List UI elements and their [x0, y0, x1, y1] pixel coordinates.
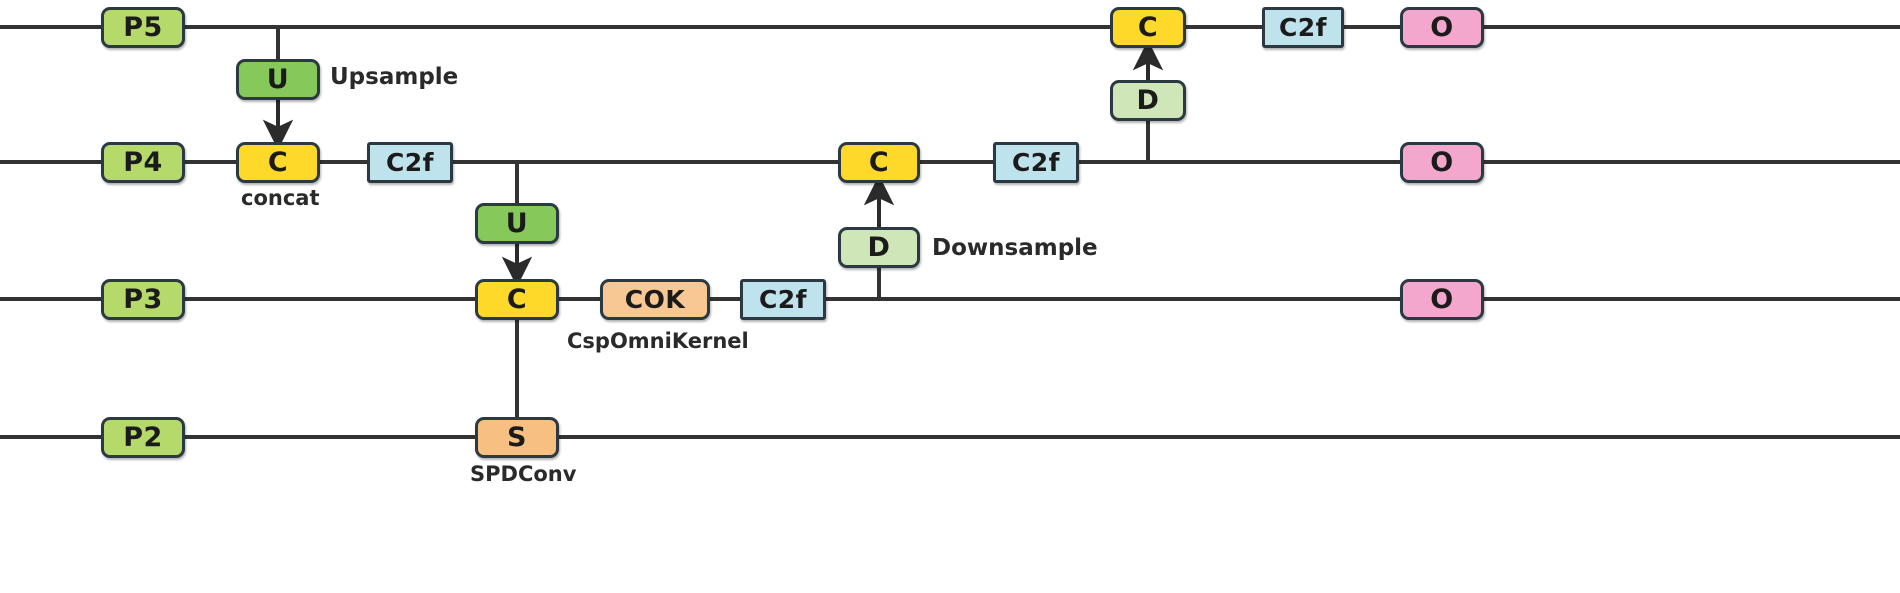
node-p5-concat[interactable]: C	[1110, 7, 1186, 48]
node-label: D	[1137, 87, 1160, 114]
node-label: P5	[123, 14, 163, 41]
node-label: U	[506, 210, 528, 237]
node-p3-cspomnikernel[interactable]: COK	[600, 279, 710, 320]
node-label: C2f	[1012, 150, 1060, 175]
node-label: P3	[123, 286, 163, 313]
node-p4-c2f-2[interactable]: C2f	[993, 142, 1079, 183]
node-label: D	[868, 234, 891, 261]
node-p5-output[interactable]: O	[1400, 7, 1484, 48]
node-p2-spdconv[interactable]: S	[475, 417, 559, 458]
node-p4-upsample[interactable]: U	[475, 203, 559, 244]
node-label: O	[1430, 14, 1453, 41]
node-p4-level[interactable]: P4	[101, 142, 185, 183]
node-label: U	[267, 66, 289, 93]
caption-spdconv: SPDConv	[470, 464, 576, 485]
node-p5-c2f[interactable]: C2f	[1262, 7, 1344, 48]
caption-downsample: Downsample	[932, 237, 1098, 260]
node-p4-concat[interactable]: C	[236, 142, 320, 183]
node-label: COK	[625, 287, 685, 312]
node-label: C	[268, 149, 288, 176]
node-p5-level[interactable]: P5	[101, 7, 185, 48]
node-label: P4	[123, 149, 163, 176]
node-p3-output[interactable]: O	[1400, 279, 1484, 320]
node-label: C2f	[386, 150, 434, 175]
node-label: C	[1138, 14, 1158, 41]
node-p4-downsample[interactable]: D	[838, 227, 920, 268]
node-p3-concat[interactable]: C	[475, 279, 559, 320]
caption-cspomnikernel: CspOmniKernel	[567, 331, 749, 352]
node-label: P2	[123, 424, 163, 451]
node-p4-c2f[interactable]: C2f	[367, 142, 453, 183]
caption-concat: concat	[241, 188, 319, 209]
node-label: O	[1430, 149, 1453, 176]
node-p3-c2f[interactable]: C2f	[740, 279, 826, 320]
node-label: S	[507, 424, 527, 451]
architecture-diagram: P5 U C C2f O P4 C C2f U D C C2f D O P3	[0, 0, 1900, 593]
node-label: C2f	[759, 287, 807, 312]
node-p5-upsample[interactable]: U	[236, 59, 320, 100]
node-label: C	[869, 149, 889, 176]
node-label: O	[1430, 286, 1453, 313]
node-label: C2f	[1279, 15, 1327, 40]
node-p4-concat-2[interactable]: C	[838, 142, 920, 183]
node-p2-level[interactable]: P2	[101, 417, 185, 458]
node-label: C	[507, 286, 527, 313]
node-p3-level[interactable]: P3	[101, 279, 185, 320]
node-p5-downsample[interactable]: D	[1110, 80, 1186, 121]
caption-upsample: Upsample	[330, 66, 458, 89]
node-p4-output[interactable]: O	[1400, 142, 1484, 183]
